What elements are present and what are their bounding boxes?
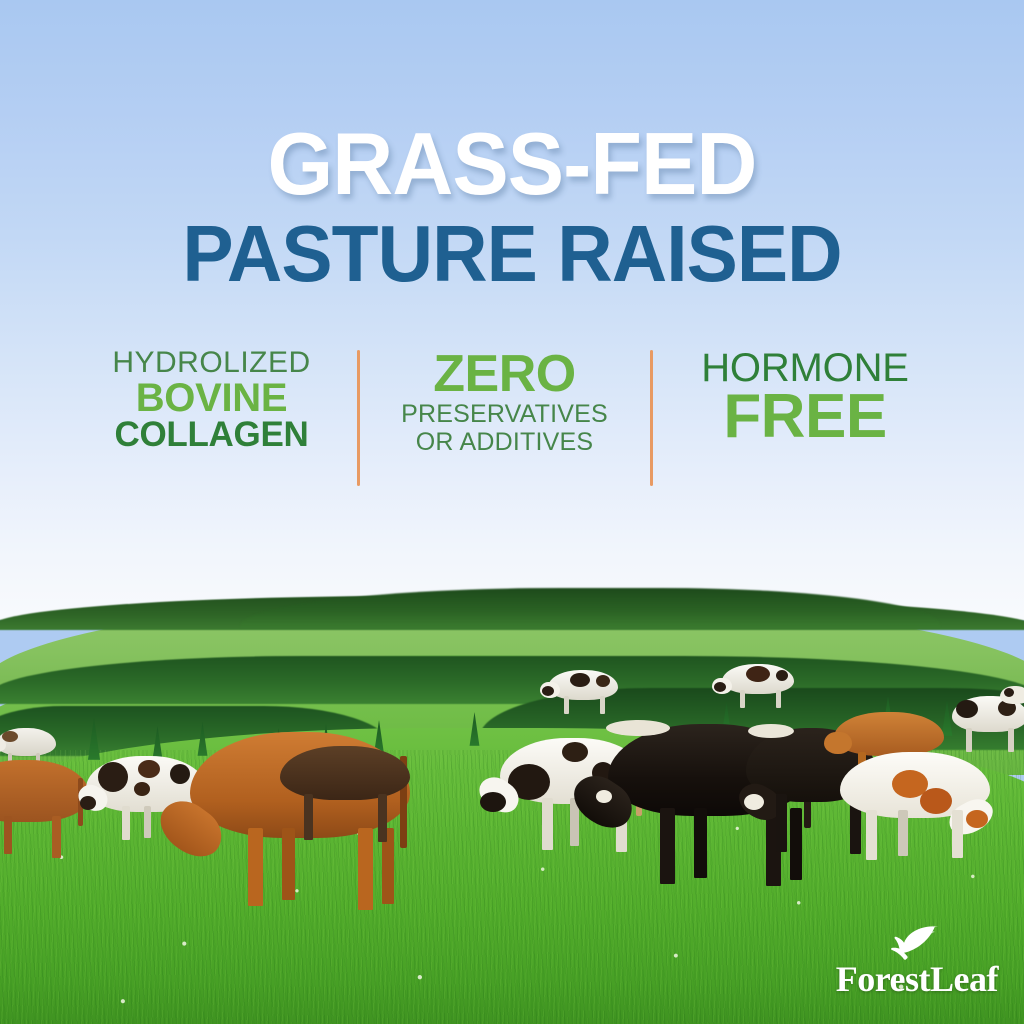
feature-3-line-2: FREE [673, 385, 938, 448]
headline-line-1: GRASS-FED [20, 120, 1003, 208]
cow [1000, 686, 1024, 704]
brand-name: ForestLeaf [836, 958, 998, 1000]
feature-2-line-3: OR ADDITIVES [380, 430, 630, 456]
cow [280, 746, 410, 800]
feature-1-line-2: BOVINE [87, 378, 337, 419]
feature-bar: HYDROLIZED BOVINE COLLAGEN ZERO PRESERVA… [0, 348, 1024, 488]
feature-2-line-2: PRESERVATIVES [380, 402, 630, 428]
sky-background [0, 0, 1024, 620]
leaf-icon [884, 924, 949, 960]
feature-2-line-1: ZERO [380, 348, 630, 401]
cow [722, 664, 794, 694]
cow [0, 728, 56, 756]
cow [548, 670, 618, 700]
feature-divider-1 [357, 350, 360, 486]
feature-hormone-free: HORMONE FREE [673, 348, 938, 448]
feature-1-line-1: HYDROLIZED [87, 348, 337, 379]
promo-poster: GRASS-FED PASTURE RAISED HYDROLIZED BOVI… [0, 0, 1024, 1024]
cow [834, 712, 944, 756]
headline-block: GRASS-FED PASTURE RAISED [0, 120, 1024, 294]
headline-line-2: PASTURE RAISED [20, 214, 1003, 294]
brand-logo: ForestLeaf [836, 924, 998, 1000]
far-treeline-secondary [240, 588, 940, 628]
feature-zero-preservatives: ZERO PRESERVATIVES OR ADDITIVES [380, 348, 630, 455]
cow [840, 752, 990, 818]
feature-1-line-3: COLLAGEN [87, 417, 337, 453]
cow [0, 760, 90, 822]
feature-hydrolized-bovine-collagen: HYDROLIZED BOVINE COLLAGEN [87, 348, 337, 453]
feature-divider-2 [650, 350, 653, 486]
